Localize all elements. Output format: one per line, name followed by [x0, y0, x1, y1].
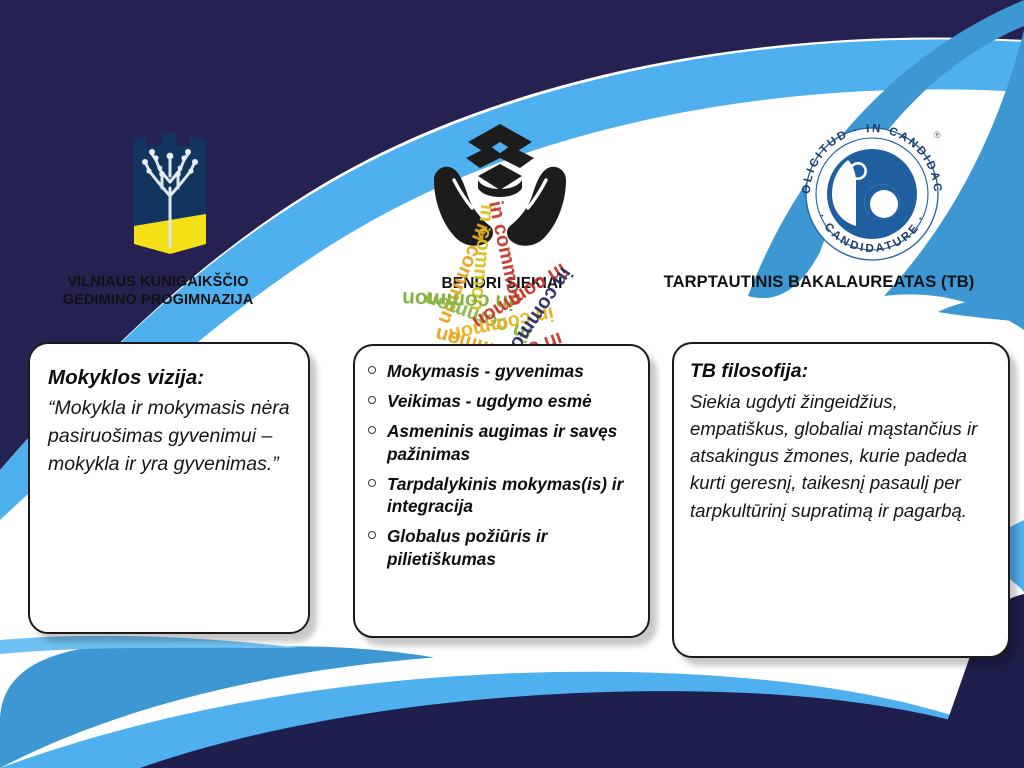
goals-logo — [420, 118, 580, 266]
ib-candidate-school-logo-icon: SOLICITUD · IN CANDIDACY · CANDIDATURE ·… — [796, 116, 948, 266]
school-logo — [112, 126, 228, 262]
vision-heading: Mokyklos vizija: — [48, 366, 290, 390]
vision-card: Mokyklos vizija: “Mokykla ir mokymasis n… — [28, 342, 310, 634]
goals-list-item: Veikimas - ugdymo esmė — [361, 390, 638, 420]
school-caption-line-2: GEDIMINO PROGIMNAZIJA — [10, 292, 306, 310]
school-shield-logo-icon — [112, 126, 228, 262]
school-caption: VILNIAUS KUNIGAIKŠČIO GEDIMINO PROGIMNAZ… — [10, 274, 306, 309]
hands-holding-books-icon — [420, 118, 580, 266]
ib-caption-line-1: TARPTAUTINIS BAKALAUREATAS (TB) — [614, 272, 1024, 292]
goals-caption-line-1: BENDRI SIEKIAI — [352, 275, 652, 294]
ib-caption: TARPTAUTINIS BAKALAUREATAS (TB) — [614, 272, 1024, 292]
ib-philosophy-card: TB filosofija: Siekia ugdyti žingeidžius… — [672, 342, 1010, 658]
goals-list-item: Asmeninis augimas ir savęs pažinimas — [361, 420, 638, 473]
ib-body: Siekia ugdyti žingeidžius, empatiškus, g… — [690, 388, 994, 524]
goals-list-item: Mokymasis - gyvenimas — [361, 360, 638, 390]
goals-caption: BENDRI SIEKIAI — [352, 275, 652, 294]
school-caption-line-1: VILNIAUS KUNIGAIKŠČIO — [10, 274, 306, 292]
ib-logo: SOLICITUD · IN CANDIDACY · CANDIDATURE ·… — [796, 116, 948, 266]
goals-list-item: Globalus požiūris ir pilietiškumas — [361, 525, 638, 578]
slide-canvas: VILNIAUS KUNIGAIKŠČIO GEDIMINO PROGIMNAZ… — [0, 0, 1024, 768]
registered-mark-icon: ® — [934, 130, 941, 140]
vision-body: “Mokykla ir mokymasis nėra pasiruošimas … — [48, 395, 290, 478]
goals-list-item: Tarpdalykinis mokymas(is) ir integracija — [361, 473, 638, 526]
goals-card: Mokymasis - gyvenimasVeikimas - ugdymo e… — [353, 344, 650, 638]
ib-heading: TB filosofija: — [690, 360, 994, 383]
goals-list: Mokymasis - gyvenimasVeikimas - ugdymo e… — [361, 360, 638, 578]
